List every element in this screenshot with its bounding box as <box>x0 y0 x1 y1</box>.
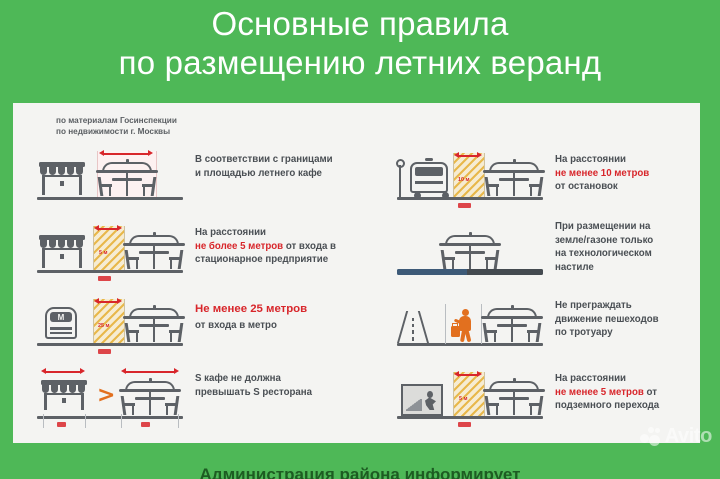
double-arrow-icon <box>94 298 122 305</box>
rule-highlight: не более 5 метров <box>195 241 283 252</box>
parasol-cafe-icon <box>483 157 545 197</box>
zone-distance-label: 10 м <box>458 177 469 183</box>
ground-min-tick-icon <box>458 203 471 208</box>
parasol-cafe-icon <box>483 376 545 416</box>
double-arrow-icon <box>454 152 482 159</box>
storefront-icon <box>39 230 85 270</box>
content-panel: по материалам Госинспекции по недвижимос… <box>13 103 700 443</box>
ground-line-icon <box>37 343 183 346</box>
ground-min-tick-icon <box>98 349 111 354</box>
source-line-2: по недвижимости г. Москвы <box>56 126 177 137</box>
rule-illustration-area-compare: > <box>35 366 185 428</box>
double-arrow-icon <box>121 368 179 375</box>
rules-column-right: 10 м На расстоянии не менее 10 метров от… <box>395 147 720 439</box>
rule-text-line-1: Не менее 25 метров <box>195 303 377 317</box>
underpass-icon <box>401 384 443 416</box>
rule-text-metro-25m: Не менее 25 метров от входа в метро <box>195 303 377 332</box>
hatched-distance-zone-icon <box>453 372 485 416</box>
rules-column-left: В соответствии с границами и площадью ле… <box>35 147 378 439</box>
rule-row-boundaries: В соответствии с границами и площадью ле… <box>35 147 378 220</box>
rule-text-line-1: Не преграждать <box>555 299 720 313</box>
metro-train-icon: М <box>41 303 81 343</box>
ground-line-icon <box>37 416 183 419</box>
bottom-caption: Администрация района информирует <box>0 465 720 479</box>
zone-distance-label: 5 м <box>459 396 467 402</box>
rule-text-line-3: по тротуару <box>555 326 720 340</box>
storefront-icon <box>39 157 85 197</box>
source-line-1: по материалам Госинспекции <box>56 115 177 126</box>
rule-text-underpass-5m: На расстоянии не менее 5 метров от подзе… <box>555 372 720 413</box>
avito-wordmark: Avito <box>665 425 712 448</box>
rule-text-line-3: подземного перехода <box>555 399 720 413</box>
rule-text-area-compare: S кафе не должна превышать S ресторана <box>195 372 377 399</box>
rule-illustration-tech-decking <box>395 220 545 282</box>
hatched-distance-zone-icon <box>93 299 125 343</box>
rule-text-line-1: На расстоянии <box>555 372 720 386</box>
parasol-cafe-icon <box>119 376 181 416</box>
poster-root: Основные правила по размещению летних ве… <box>0 0 720 466</box>
ground-line-icon <box>397 416 543 419</box>
double-arrow-icon <box>94 225 122 232</box>
parasol-cafe-icon <box>481 303 543 343</box>
rule-text-line-2: и площадью летнего кафе <box>195 167 377 181</box>
rule-text-busstop-10m: На расстоянии не менее 10 метров от оста… <box>555 153 720 194</box>
rule-text-line-2: не более 5 метров от входа в <box>195 240 377 254</box>
hatched-distance-zone-icon <box>93 226 125 270</box>
rule-highlight: не менее 10 метров <box>555 168 649 179</box>
ground-area-tick-right-icon <box>141 422 150 427</box>
bus-stop-icon <box>399 157 451 197</box>
double-arrow-icon <box>454 371 482 378</box>
ground-min-tick-icon <box>458 422 471 427</box>
ground-line-icon <box>37 270 183 273</box>
title-line-1: Основные правила <box>0 4 720 43</box>
metro-logo-label: М <box>55 313 68 322</box>
page-title: Основные правила по размещению летних ве… <box>0 4 720 82</box>
rule-row-pedestrian-flow: Не преграждать движение пешеходов по тро… <box>395 293 720 366</box>
rule-text-line-1: S кафе не должна <box>195 372 377 386</box>
rule-text-line-1: На расстоянии <box>195 226 377 240</box>
rule-row-metro-25m: М 25 м <box>35 293 378 366</box>
rule-illustration-entrance-5m: 5 м <box>35 220 185 282</box>
double-arrow-icon <box>41 368 85 375</box>
rule-highlight: Не менее 25 метров <box>195 303 307 315</box>
rule-illustration-pedestrian-flow <box>395 293 545 355</box>
double-arrow-icon <box>99 150 153 157</box>
rule-illustration-busstop-10m: 10 м <box>395 147 545 209</box>
rule-text-entrance-5m: На расстоянии не более 5 метров от входа… <box>195 226 377 267</box>
avito-logo-icon <box>640 427 662 447</box>
rule-text-line-1: На расстоянии <box>555 153 720 167</box>
storefront-icon <box>41 380 87 416</box>
source-credit: по материалам Госинспекции по недвижимос… <box>56 115 177 137</box>
rule-text-line-3: на технологическом <box>555 247 720 261</box>
parasol-cafe-icon <box>439 230 501 270</box>
rule-text-line-2: от входа в метро <box>195 319 377 333</box>
avito-watermark: Avito <box>640 425 712 448</box>
rule-text-rest: от <box>644 387 657 398</box>
zone-distance-label: 25 м <box>98 323 109 329</box>
ground-area-tick-left-icon <box>57 422 66 427</box>
ground-max-tick-icon <box>98 276 111 281</box>
parasol-cafe-icon <box>96 157 158 197</box>
rule-text-boundaries: В соответствии с границами и площадью ле… <box>195 153 377 180</box>
rule-text-line-2: превышать S ресторана <box>195 386 377 400</box>
rule-highlight: не менее 5 метров <box>555 387 644 398</box>
greater-than-icon: > <box>97 386 119 406</box>
rule-text-line-1: В соответствии с границами <box>195 153 377 167</box>
rule-illustration-boundaries <box>35 147 185 209</box>
ground-line-icon <box>37 197 183 200</box>
rule-text-line-2: не менее 5 метров от <box>555 386 720 400</box>
rule-text-line-3: от остановок <box>555 180 720 194</box>
pedestrian-with-bag-icon <box>451 309 477 343</box>
rule-text-tech-decking: При размещении на земле/газоне только на… <box>555 220 720 274</box>
rule-row-busstop-10m: 10 м На расстоянии не менее 10 метров от… <box>395 147 720 220</box>
rule-text-line-2: движение пешеходов <box>555 313 720 327</box>
parasol-cafe-icon <box>123 230 185 270</box>
rule-text-pedestrian-flow: Не преграждать движение пешеходов по тро… <box>555 299 720 340</box>
rule-text-line-2: не менее 10 метров <box>555 167 720 181</box>
rule-row-entrance-5m: 5 м На расстоянии не более 5 метров от в… <box>35 220 378 293</box>
ground-line-icon <box>397 343 543 346</box>
parasol-cafe-icon <box>123 303 185 343</box>
rule-illustration-underpass-5m: 5 м <box>395 366 545 428</box>
rule-illustration-metro-25m: М 25 м <box>35 293 185 355</box>
rule-text-line-3: стационарное предприятие <box>195 253 377 267</box>
road-crosswalk-icon <box>397 309 441 343</box>
rule-row-tech-decking: При размещении на земле/газоне только на… <box>395 220 720 293</box>
hatched-distance-zone-icon <box>453 153 485 197</box>
rule-text-rest: от входа в <box>283 241 336 252</box>
rule-text-line-1: При размещении на <box>555 220 720 234</box>
rule-text-line-2: земле/газоне только <box>555 234 720 248</box>
rule-row-area-compare: > <box>35 366 378 439</box>
title-line-2: по размещению летних веранд <box>0 43 720 82</box>
rule-text-line-4: настиле <box>555 261 720 275</box>
zone-distance-label: 5 м <box>99 250 107 256</box>
